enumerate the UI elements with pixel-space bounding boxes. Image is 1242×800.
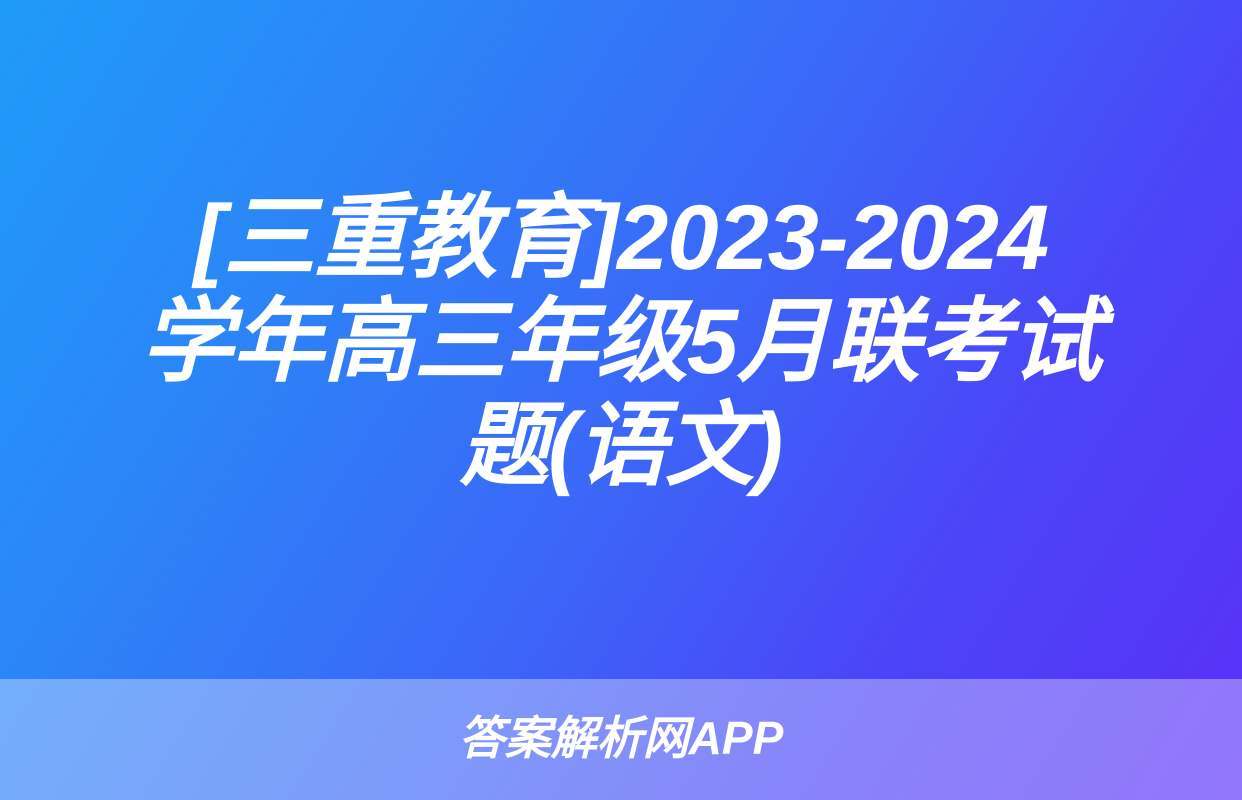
app-watermark-label: 答案解析网APP: [459, 715, 784, 761]
title-line-1: [三重教育]2023-2024: [110, 186, 1132, 290]
title-line-3: 题(语文): [125, 394, 1116, 498]
exam-cover-card: [三重教育]2023-2024 学年高三年级5月联考试 题(语文) 答案解析网A…: [0, 0, 1242, 800]
title-line-2: 学年高三年级5月联考试: [110, 290, 1132, 394]
page-title: [三重教育]2023-2024 学年高三年级5月联考试 题(语文): [110, 186, 1132, 498]
footer-watermark-band: 答案解析网APP: [0, 679, 1242, 800]
